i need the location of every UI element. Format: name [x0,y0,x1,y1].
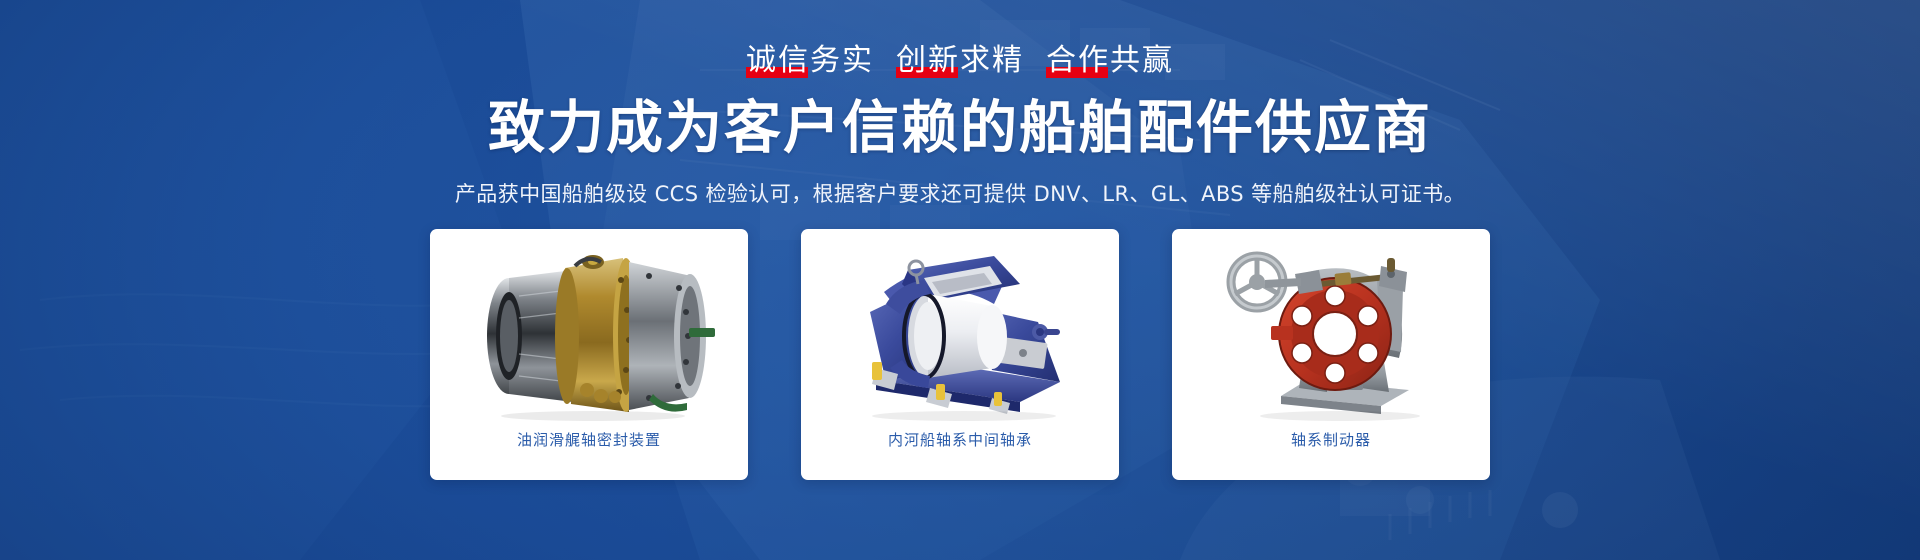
tagline-phrase-2-text: 创新求精 [896,43,1024,78]
banner-tagline: 诚信务实 创新求精 合作共赢 [746,46,1174,76]
product-card-label: 油润滑艉轴密封装置 [517,429,661,450]
product-card-label: 内河船轴系中间轴承 [888,429,1032,450]
banner-subtitle: 产品获中国船舶级设 CCS 检验认可，根据客户要求还可提供 DNV、LR、GL、… [455,178,1465,208]
shafting-brake-photo [1172,235,1490,427]
product-card[interactable]: 内河船轴系中间轴承 [801,229,1119,480]
product-card-list: 油润滑艉轴密封装置 [430,229,1490,480]
stern-shaft-seal-photo [430,235,748,427]
intermediate-bearing-photo [801,235,1119,427]
product-card[interactable]: 油润滑艉轴密封装置 [430,229,748,480]
product-card-label: 轴系制动器 [1291,429,1371,450]
tagline-phrase-3-text: 合作共赢 [1046,43,1174,78]
tagline-phrase-1-text: 诚信务实 [746,43,874,78]
product-card[interactable]: 轴系制动器 [1172,229,1490,480]
tagline-phrase-1: 诚信务实 [746,46,874,76]
hero-banner: 诚信务实 创新求精 合作共赢 致力成为客户信赖的船舶配件供应商 产品获中国船舶级… [0,0,1920,560]
tagline-phrase-2: 创新求精 [896,46,1024,76]
banner-headline: 致力成为客户信赖的船舶配件供应商 [488,96,1432,162]
tagline-phrase-3: 合作共赢 [1046,46,1174,76]
